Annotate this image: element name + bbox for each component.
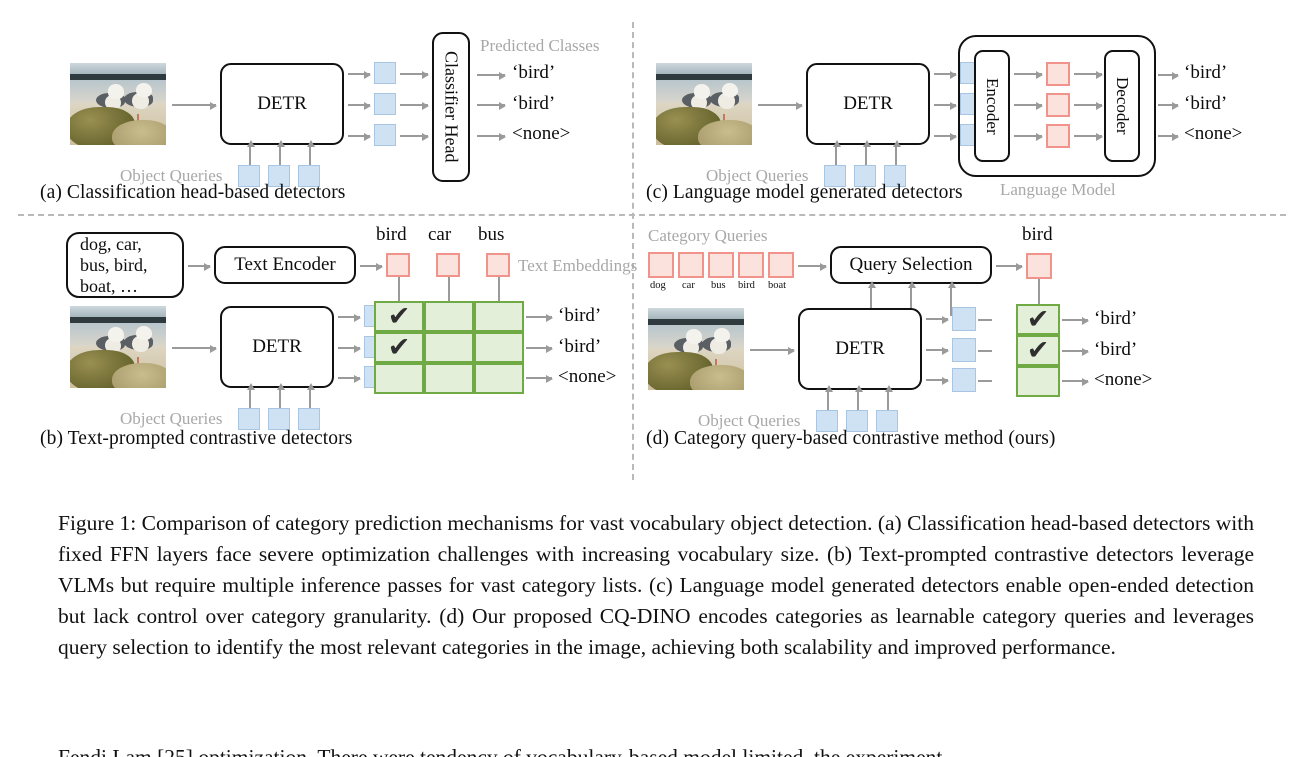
figure-caption: Figure 1: Comparison of category predict…	[58, 508, 1254, 663]
arrow-out-to-head-a-2	[400, 104, 428, 106]
decoder-output-d-3	[952, 368, 976, 392]
arrow-col-out-d-2	[1062, 350, 1088, 352]
language-token-c-2	[1046, 93, 1070, 117]
text-encoder-label-b: Text Encoder	[234, 254, 336, 276]
line-out-col-d-2	[978, 350, 992, 352]
arrow-detr-out-a-3	[348, 135, 370, 137]
match-cell-d-3	[1016, 366, 1060, 397]
check-icon-d-2: ✔	[1027, 337, 1050, 364]
arrow-tok-dec-c-1	[1074, 73, 1102, 75]
classifier-head-box-a: Classifier Head	[432, 32, 470, 182]
arrow-query-a-2	[279, 147, 281, 165]
category-query-label-4: bird	[738, 280, 755, 291]
line-selected-to-column-d	[1038, 279, 1040, 307]
output-d-1: ‘bird’	[1094, 308, 1137, 330]
panel-caption-d: (d) Category query-based contrastive met…	[646, 428, 1056, 450]
arrow-detr-out-b-3	[338, 377, 360, 379]
decoder-label-c: Decoder	[1112, 77, 1132, 135]
arrow-query-d-1	[827, 392, 829, 410]
line-emb-grid-b-1	[398, 277, 400, 301]
arrow-query-b-3	[309, 390, 311, 408]
line-emb-grid-b-3	[498, 277, 500, 301]
text-embeddings-label-b: Text Embeddings	[518, 256, 637, 276]
detr-label-b: DETR	[252, 336, 302, 358]
output-b-1: ‘bird’	[558, 305, 601, 327]
category-query-d-2	[678, 252, 704, 278]
grid-cell-b-r3c2	[424, 363, 474, 394]
panel-a: DETR Object Queries Classifier Head Pred…	[0, 22, 632, 214]
arrow-grid-out-b-3	[526, 377, 552, 379]
arrow-pred-a-3	[477, 135, 505, 137]
detr-label-d: DETR	[835, 338, 885, 360]
panel-caption-b: (b) Text-prompted contrastive detectors	[40, 428, 352, 450]
arrow-image-to-detr-c	[758, 104, 802, 106]
arrow-image-to-detr-b	[172, 347, 216, 349]
text-embedding-b-2	[436, 253, 460, 277]
category-query-d-1	[648, 252, 674, 278]
arrow-vocab-to-encoder-b	[188, 265, 210, 267]
check-icon-d-1: ✔	[1027, 306, 1050, 333]
arrow-out-to-head-a-1	[400, 73, 428, 75]
arrow-detr-out-a-2	[348, 104, 370, 106]
input-image-b	[70, 306, 166, 388]
arrow-out-c-1	[1158, 74, 1178, 76]
embedding-header-1: bird	[376, 224, 407, 246]
arrow-detr-out-c-3	[934, 135, 956, 137]
panel-d: Category Queries dog car bus bird boat Q…	[634, 216, 1302, 480]
arrow-enc-tok-c-2	[1014, 104, 1042, 106]
arrow-detr-out-c-1	[934, 73, 956, 75]
arrow-enc-tok-c-3	[1014, 135, 1042, 137]
input-image-d	[648, 308, 744, 390]
language-token-c-3	[1046, 124, 1070, 148]
object-query-b-1	[238, 408, 260, 430]
arrow-detr-out-b-2	[338, 347, 360, 349]
arrow-out-c-2	[1158, 104, 1178, 106]
arrow-tok-dec-c-2	[1074, 104, 1102, 106]
arrow-query-b-1	[249, 390, 251, 408]
arrow-grid-out-b-2	[526, 347, 552, 349]
check-icon-b-r2c1: ✔	[388, 334, 411, 361]
arrow-query-a-1	[249, 147, 251, 165]
line-emb-grid-b-2	[448, 277, 450, 301]
grid-cell-b-r3c3	[474, 363, 524, 394]
output-b-2: ‘bird’	[558, 336, 601, 358]
vocab-line-1: dog, car,	[80, 234, 142, 255]
detr-box-c: DETR	[806, 63, 930, 145]
grid-cell-b-r1c1: ✔	[374, 301, 424, 332]
detr-box-a: DETR	[220, 63, 344, 145]
text-embedding-b-1	[386, 253, 410, 277]
selected-category-box-d	[1026, 253, 1052, 279]
arrow-qs-to-selected-d	[996, 265, 1022, 267]
text-embedding-b-3	[486, 253, 510, 277]
decoder-output-a-3	[374, 124, 396, 146]
output-c-2: ‘bird’	[1184, 93, 1227, 115]
arrow-detr-out-d-2	[926, 349, 948, 351]
input-image-c	[656, 63, 752, 145]
category-query-d-5	[768, 252, 794, 278]
output-d-3: <none>	[1094, 369, 1152, 391]
category-query-label-3: bus	[711, 280, 726, 291]
text-encoder-box-b: Text Encoder	[214, 246, 356, 284]
grid-cell-b-r2c3	[474, 332, 524, 363]
vocab-line-2: bus, bird,	[80, 255, 148, 276]
line-out-col-d-1	[978, 319, 992, 321]
arrow-catq-to-qs-d	[798, 265, 826, 267]
grid-cell-b-r2c2	[424, 332, 474, 363]
figure-1: DETR Object Queries Classifier Head Pred…	[0, 0, 1302, 492]
arrow-pred-a-1	[477, 74, 505, 76]
output-c-3: <none>	[1184, 123, 1242, 145]
arrow-detr-out-a-1	[348, 73, 370, 75]
arrow-encoder-to-emb-b	[360, 265, 382, 267]
decoder-output-a-2	[374, 93, 396, 115]
category-queries-label-d: Category Queries	[648, 226, 767, 246]
category-query-label-2: car	[682, 280, 695, 291]
embedding-header-3: bus	[478, 224, 504, 246]
vocab-line-3: boat, …	[80, 276, 138, 297]
arrow-enc-tok-c-1	[1014, 73, 1042, 75]
arrow-query-c-2	[865, 147, 867, 165]
arrow-query-b-2	[279, 390, 281, 408]
query-selection-label-d: Query Selection	[850, 254, 973, 276]
language-model-label-c: Language Model	[1000, 180, 1116, 200]
arrow-out-c-3	[1158, 135, 1178, 137]
grid-cell-b-r1c2	[424, 301, 474, 332]
grid-cell-b-r2c1: ✔	[374, 332, 424, 363]
arrow-query-a-3	[309, 147, 311, 165]
arrow-col-out-d-3	[1062, 380, 1088, 382]
decoder-box-c: Decoder	[1104, 50, 1140, 162]
body-text-cut-line: Fendi Lam [25] optimization. There were …	[58, 742, 1254, 757]
output-a-3: <none>	[512, 123, 570, 145]
output-d-2: ‘bird’	[1094, 339, 1137, 361]
arrow-detr-out-d-3	[926, 379, 948, 381]
match-cell-d-1: ✔	[1016, 304, 1060, 335]
check-icon-b-r1c1: ✔	[388, 303, 411, 330]
arrow-tok-dec-c-3	[1074, 135, 1102, 137]
arrow-detr-out-d-1	[926, 318, 948, 320]
category-query-label-5: boat	[768, 280, 786, 291]
panel-caption-a: (a) Classification head-based detectors	[40, 182, 345, 204]
arrow-query-d-2	[857, 392, 859, 410]
arrow-pred-a-2	[477, 104, 505, 106]
query-selection-box-d: Query Selection	[830, 246, 992, 284]
embedding-header-2: car	[428, 224, 451, 246]
panel-c: DETR Object Queries Encoder	[634, 22, 1302, 214]
output-a-1: ‘bird’	[512, 62, 555, 84]
decoder-output-d-2	[952, 338, 976, 362]
match-cell-d-2: ✔	[1016, 335, 1060, 366]
output-a-2: ‘bird’	[512, 93, 555, 115]
arrow-detr-out-c-2	[934, 104, 956, 106]
grid-cell-b-r1c3	[474, 301, 524, 332]
object-query-b-3	[298, 408, 320, 430]
predicted-classes-label-a: Predicted Classes	[480, 36, 599, 56]
line-out-col-d-3	[978, 380, 992, 382]
grid-cell-b-r3c1	[374, 363, 424, 394]
encoder-box-c: Encoder	[974, 50, 1010, 162]
decoder-output-a-1	[374, 62, 396, 84]
arrow-query-c-1	[835, 147, 837, 165]
arrow-query-d-3	[887, 392, 889, 410]
detr-box-b: DETR	[220, 306, 334, 388]
vocabulary-box-b: dog, car, bus, bird, boat, …	[66, 232, 184, 298]
panel-caption-c: (c) Language model generated detectors	[646, 182, 963, 204]
panel-b: dog, car, bus, bird, boat, … Text Encode…	[0, 216, 632, 480]
arrow-query-c-3	[895, 147, 897, 165]
arrow-detr-out-b-1	[338, 316, 360, 318]
category-query-label-1: dog	[650, 280, 666, 291]
object-query-b-2	[268, 408, 290, 430]
detr-box-d: DETR	[798, 308, 922, 390]
output-b-3: <none>	[558, 366, 616, 388]
arrow-col-out-d-1	[1062, 319, 1088, 321]
detr-label-c: DETR	[843, 93, 893, 115]
input-image-a	[70, 63, 166, 145]
selected-category-label-d: bird	[1022, 224, 1053, 246]
object-queries-label-b: Object Queries	[120, 409, 222, 429]
category-query-d-3	[708, 252, 734, 278]
category-query-d-4	[738, 252, 764, 278]
arrow-image-to-detr-d	[750, 349, 794, 351]
detr-label-a: DETR	[257, 93, 307, 115]
encoder-label-c: Encoder	[982, 78, 1002, 135]
arrow-grid-out-b-1	[526, 316, 552, 318]
arrow-image-to-detr-a	[172, 104, 216, 106]
classifier-head-label-a: Classifier Head	[441, 51, 462, 162]
arrow-out-to-head-a-3	[400, 135, 428, 137]
decoder-output-d-1	[952, 307, 976, 331]
output-c-1: ‘bird’	[1184, 62, 1227, 84]
language-token-c-1	[1046, 62, 1070, 86]
